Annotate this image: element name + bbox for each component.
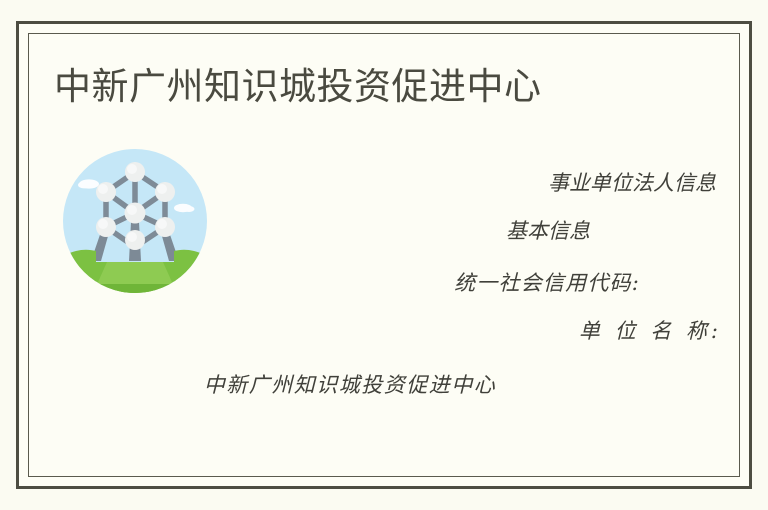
unit-name-value: 中新广州知识城投资促进中心 <box>40 362 740 408</box>
info-block: 事业单位法人信息 基本信息 统一社会信用代码: 单 位 名 称: 中新广州知识城… <box>40 160 740 408</box>
info-heading: 事业单位法人信息 <box>40 160 740 206</box>
page-title: 中新广州知识城投资促进中心 <box>54 63 542 111</box>
info-subheading: 基本信息 <box>40 208 740 254</box>
credit-code-label: 统一社会信用代码: <box>40 260 740 306</box>
certificate-page: 中新广州知识城投资促进中心 <box>0 0 768 510</box>
unit-name-label: 单 位 名 称: <box>40 308 740 354</box>
